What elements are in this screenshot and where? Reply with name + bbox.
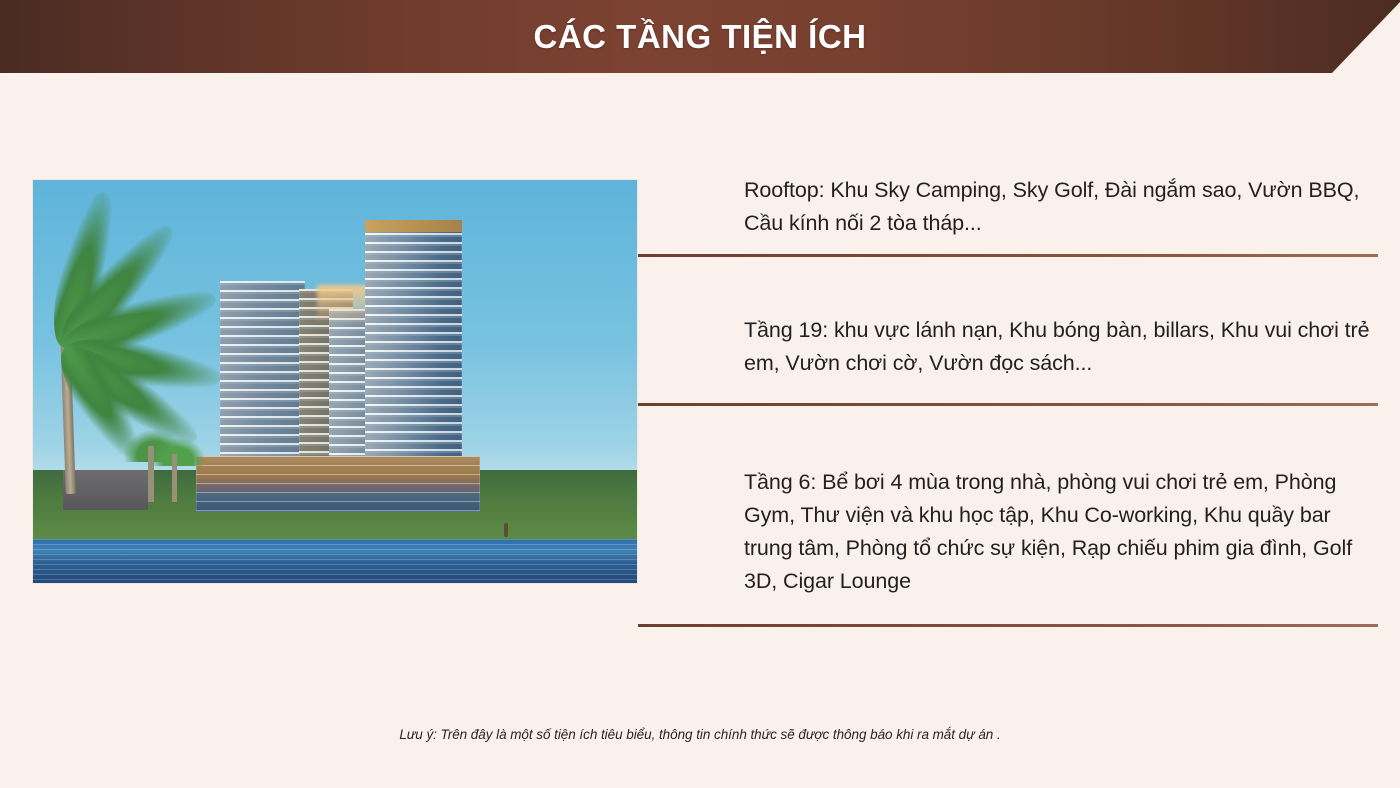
low-rise-building [63, 470, 148, 510]
disclaimer-note: Lưu ý: Trên đây là một số tiện ích tiêu … [0, 727, 1400, 742]
lake-water [33, 539, 637, 583]
tower-sun-glow [317, 285, 371, 325]
slide-root: CÁC TẦNG TIỆN ÍCH [0, 0, 1400, 788]
person-figure [504, 523, 508, 537]
amenity-block-floor-19: Tầng 19: khu vực lánh nạn, Khu bóng bàn,… [638, 257, 1378, 406]
amenity-block-text: Tầng 6: Bể bơi 4 mùa trong nhà, phòng vu… [638, 406, 1378, 624]
amenity-floors-list: Rooftop: Khu Sky Camping, Sky Golf, Đài … [638, 160, 1378, 627]
render-scene [33, 180, 637, 583]
amenity-block-rooftop: Rooftop: Khu Sky Camping, Sky Golf, Đài … [638, 160, 1378, 257]
podium-block [196, 456, 480, 512]
amenity-block-floor-6: Tầng 6: Bể bơi 4 mùa trong nhà, phòng vu… [638, 406, 1378, 627]
amenity-block-text: Rooftop: Khu Sky Camping, Sky Golf, Đài … [638, 160, 1378, 254]
block-divider [638, 624, 1378, 627]
slide-header-banner: CÁC TẦNG TIỆN ÍCH [0, 0, 1400, 73]
tower-right-crown [365, 220, 462, 232]
amenity-block-text: Tầng 19: khu vực lánh nạn, Khu bóng bàn,… [638, 257, 1378, 403]
project-render-image [33, 180, 637, 583]
tower-right [365, 224, 462, 466]
palm-tree-small [151, 438, 205, 466]
page-title: CÁC TẦNG TIỆN ÍCH [0, 18, 1400, 56]
palm-tree-small-trunk [172, 454, 177, 502]
tower-left [220, 281, 305, 474]
